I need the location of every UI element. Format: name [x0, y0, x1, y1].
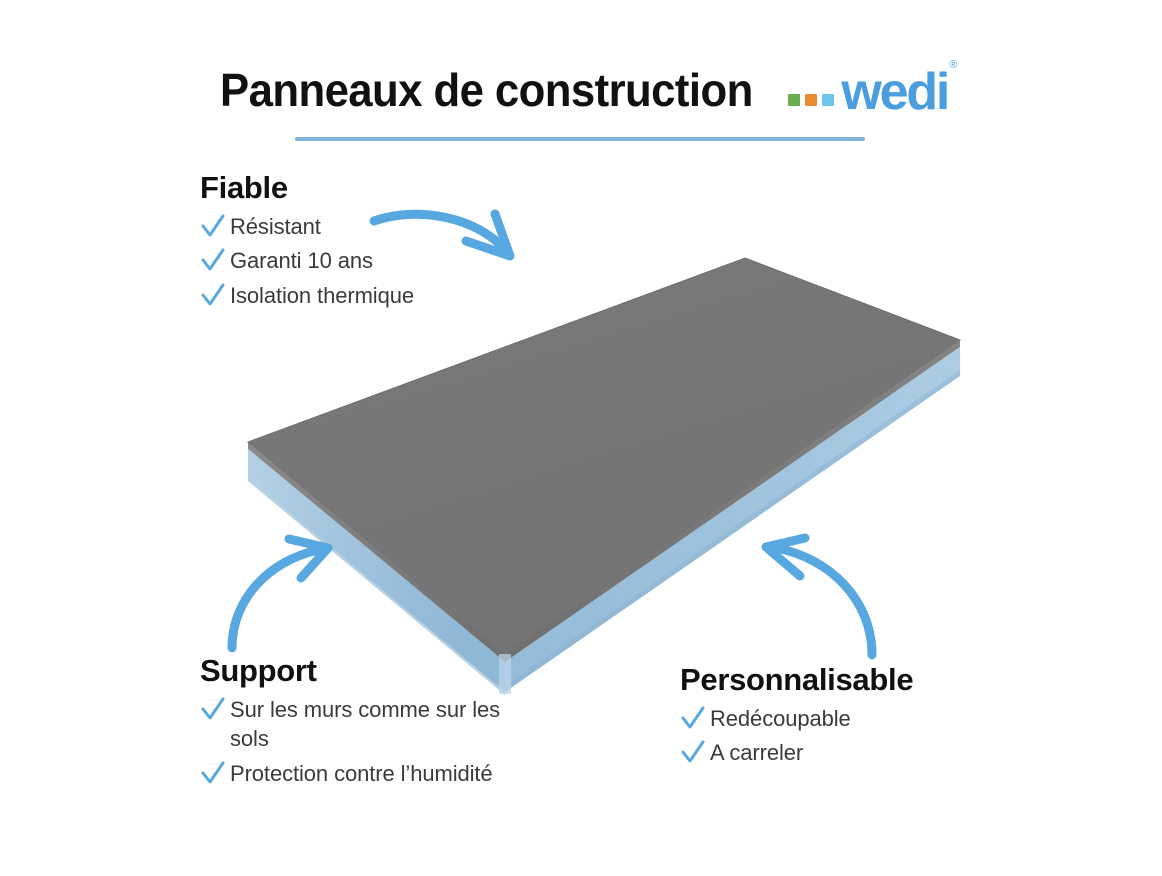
arrow-layer	[0, 0, 1162, 871]
check-icon	[200, 282, 226, 310]
feature-list-personnalisable: Redécoupable A carreler	[680, 704, 913, 768]
feature-text: Protection contre l’humidité	[230, 759, 493, 788]
feature-heading-personnalisable: Personnalisable	[680, 662, 913, 698]
check-icon	[200, 696, 226, 724]
header-divider	[295, 137, 865, 141]
registered-trademark-icon: ®	[949, 59, 957, 71]
board-top-face	[248, 258, 960, 655]
check-icon	[680, 705, 706, 733]
arrow-layer-svg	[0, 0, 1162, 871]
list-item: Isolation thermique	[200, 281, 414, 310]
feature-text: A carreler	[710, 738, 803, 767]
feature-block-fiable: Fiable Résistant Garanti 10 ans	[200, 170, 414, 315]
list-item: Redécoupable	[680, 704, 913, 733]
list-item: Résistant	[200, 212, 414, 241]
check-icon	[680, 739, 706, 767]
page-title: Panneaux de construction	[220, 63, 753, 117]
list-item: Garanti 10 ans	[200, 246, 414, 275]
board-right-edge	[505, 340, 960, 692]
logo-square-green-icon	[788, 94, 800, 106]
logo-square-blue-icon	[822, 94, 834, 106]
arrow-to-panel-left-icon	[232, 539, 328, 648]
feature-block-support: Support Sur les murs comme sur les sols …	[200, 653, 535, 793]
feature-heading-support: Support	[200, 653, 535, 689]
feature-text: Redécoupable	[710, 704, 851, 733]
feature-text: Garanti 10 ans	[230, 246, 373, 275]
check-icon	[200, 247, 226, 275]
wedi-logo: wedi®	[788, 71, 956, 114]
logo-squares	[788, 94, 834, 106]
list-item: Sur les murs comme sur les sols	[200, 695, 535, 754]
feature-list-fiable: Résistant Garanti 10 ans Isolation therm…	[200, 212, 414, 310]
feature-text: Isolation thermique	[230, 281, 414, 310]
list-item: A carreler	[680, 738, 913, 767]
list-item: Protection contre l’humidité	[200, 759, 535, 788]
feature-text: Résistant	[230, 212, 321, 241]
feature-heading-fiable: Fiable	[200, 170, 414, 206]
header: Panneaux de construction wedi®	[0, 58, 1162, 122]
arrow-to-panel-right-icon	[766, 538, 872, 655]
logo-wordmark-text: wedi	[841, 63, 948, 121]
feature-block-personnalisable: Personnalisable Redécoupable A carreler	[680, 662, 913, 773]
feature-list-support: Sur les murs comme sur les sols Protecti…	[200, 695, 535, 788]
check-icon	[200, 213, 226, 241]
check-icon	[200, 760, 226, 788]
logo-square-orange-icon	[805, 94, 817, 106]
feature-text: Sur les murs comme sur les sols	[230, 695, 535, 754]
logo-wordmark: wedi®	[841, 71, 956, 114]
infographic-canvas: Panneaux de construction wedi®	[0, 0, 1162, 871]
